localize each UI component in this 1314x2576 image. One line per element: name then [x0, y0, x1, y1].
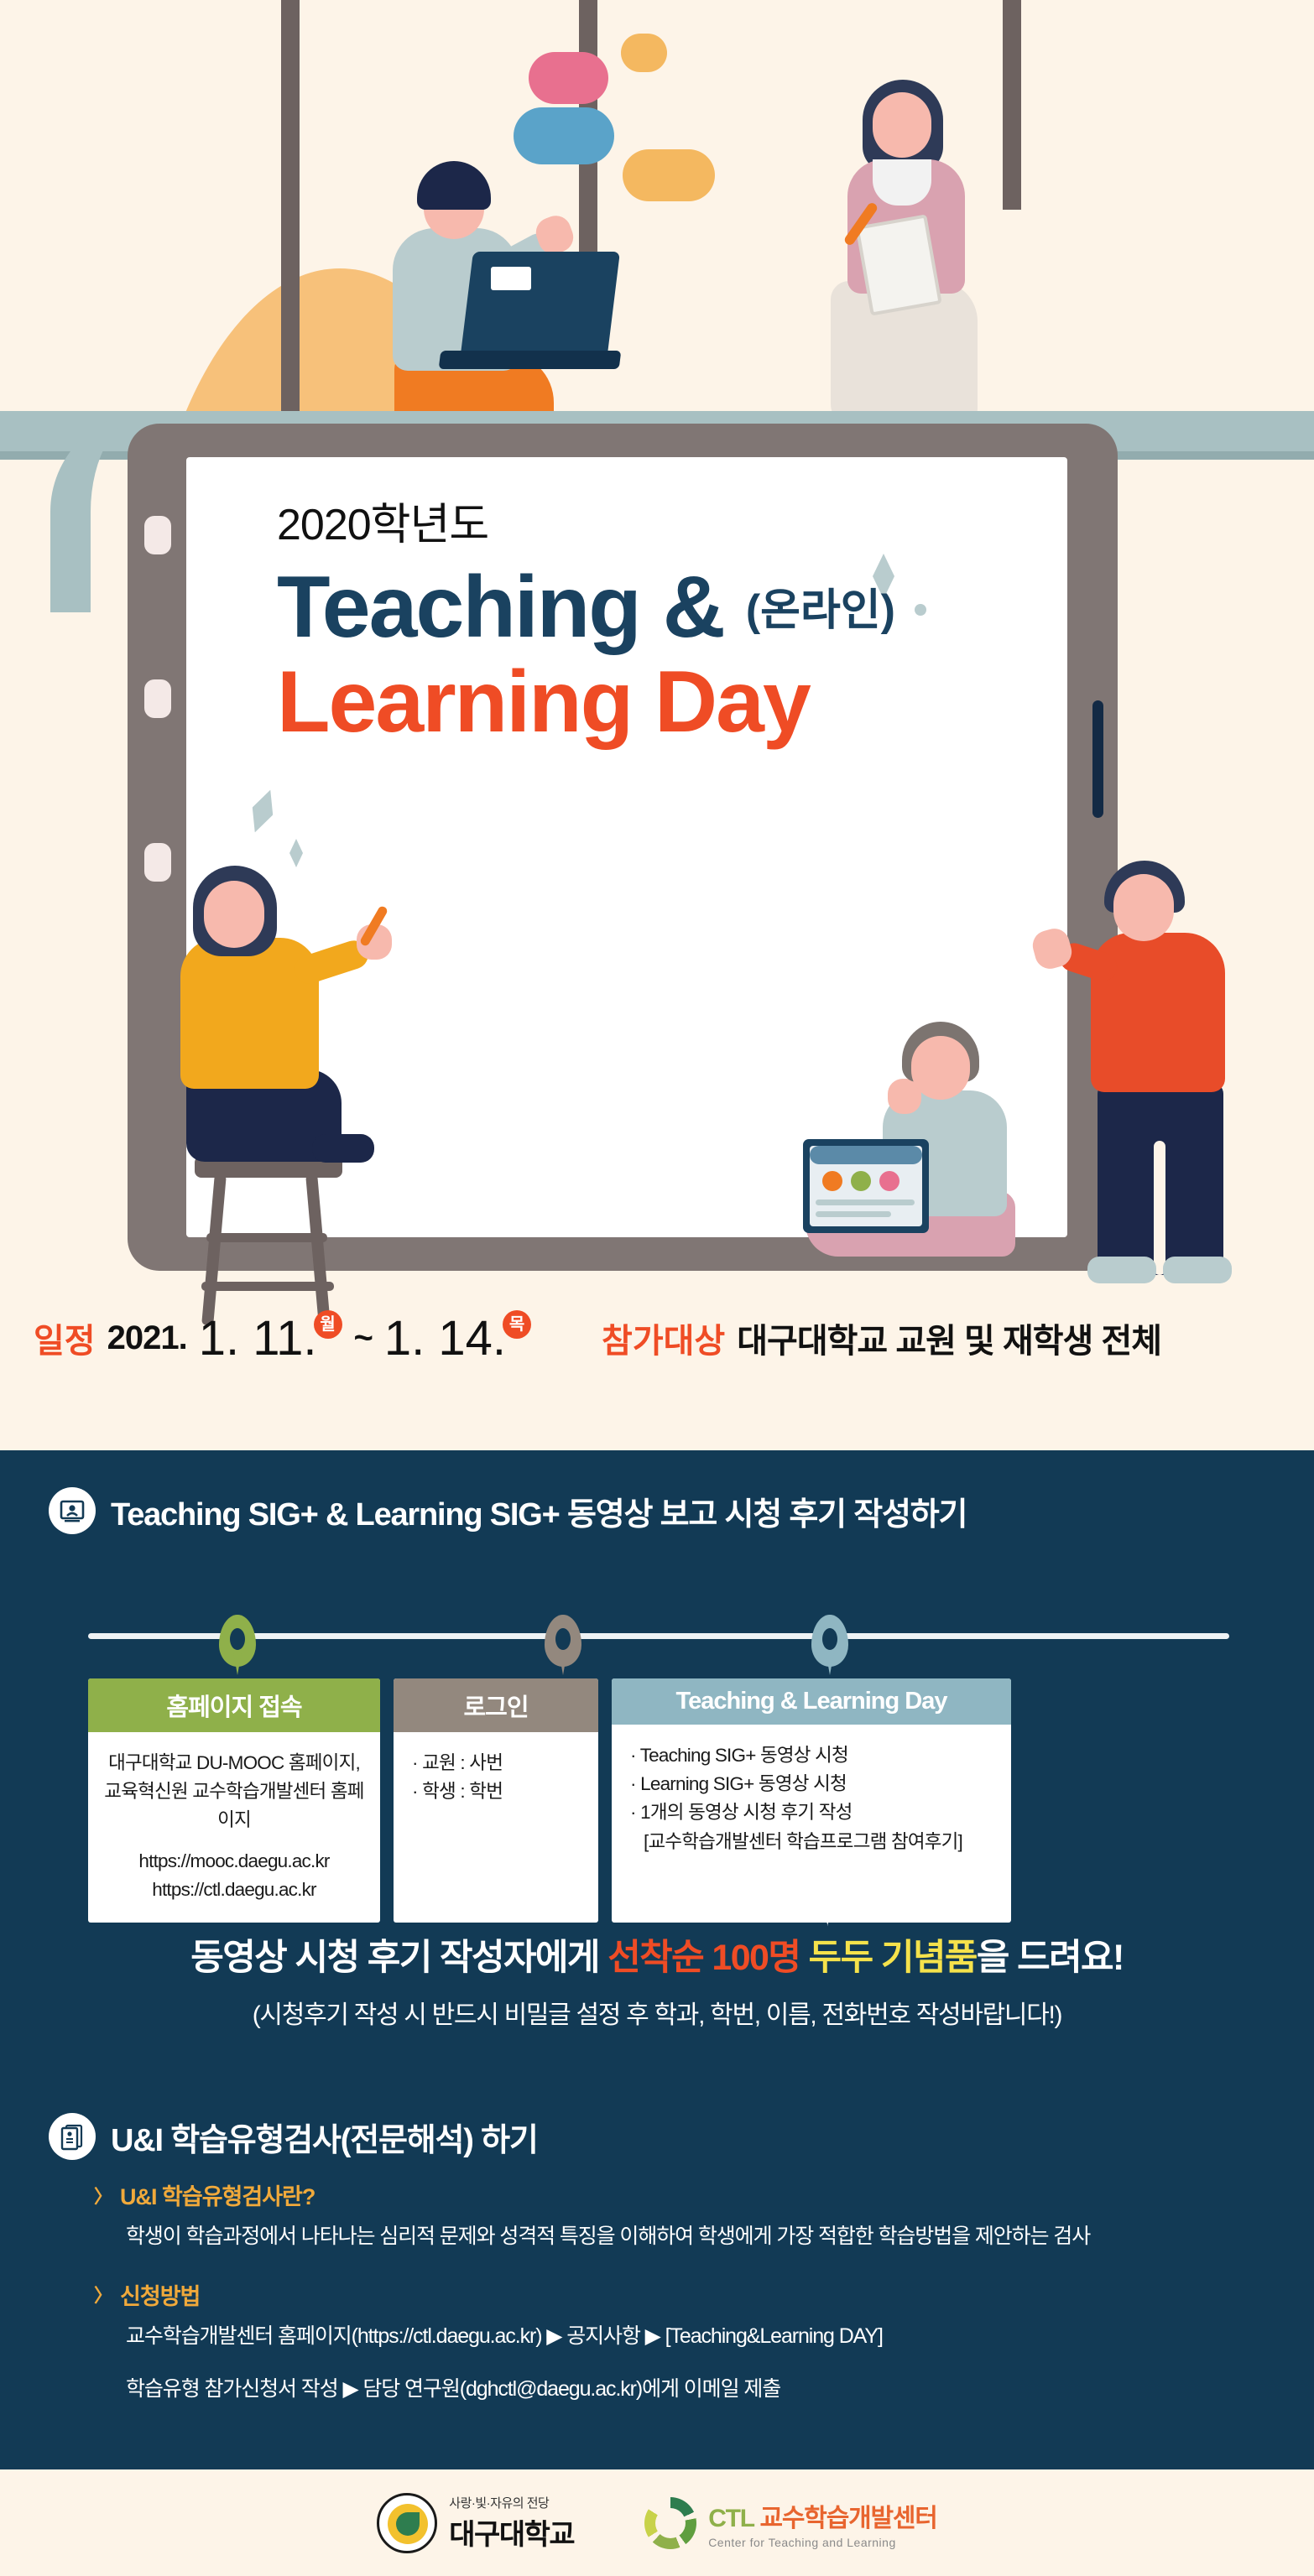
schedule-end-day-badge: 목 [503, 1310, 531, 1339]
ctl-logo: CTL 교수학습개발센터 Center for Teaching and Lea… [644, 2497, 937, 2549]
uni-apply-heading: 〉 신청방법 [94, 2278, 1314, 2311]
section2-body: 〉 U&I 학습유형검사란? 학생이 학습과정에서 나타나는 심리적 문제와 성… [0, 2160, 1314, 2406]
schedule-label: 일정 [34, 1314, 96, 1362]
ctl-name-kr: 교수학습개발센터 [753, 2505, 936, 2532]
audience-value: 대구대학교 교원 및 재학생 전체 [737, 1314, 1161, 1362]
timeline-pin-1 [219, 1615, 256, 1675]
step-3-line-3: · 1개의 동영상 시청 후기 작성 [630, 1798, 998, 1827]
audience-label: 참가대상 [602, 1314, 725, 1362]
step-1-header: 홈페이지 접속 [88, 1678, 380, 1732]
schedule-bar: 일정 2021. 1. 11.월 ~ 1. 14.목 참가대상 대구대학교 교원… [0, 1292, 1314, 1384]
step-2-body: · 교원 : 사번 · 학생 : 학번 [394, 1732, 598, 1923]
ctl-logo-text: CTL 교수학습개발센터 Center for Teaching and Lea… [708, 2497, 937, 2549]
step-1-body: 대구대학교 DU-MOOC 홈페이지, 교육혁신원 교수학습개발센터 홈페이지 … [88, 1732, 380, 1923]
gift-announcement: ✧ 동영상 시청 후기 작성자에게 선착순 100명 두두 기념품을 드려요! … [0, 1928, 1314, 2031]
uni-apply-step-1: 교수학습개발센터 홈페이지(https://ctl.daegu.ac.kr) ▶… [126, 2321, 1314, 2353]
university-name: 대구대학교 [449, 2511, 574, 2553]
poster-footer: 사랑·빛·자유의 전당 대구대학교 CTL 교수학습개발센터 Center fo… [0, 2469, 1314, 2576]
ctl-abbrev: CTL [708, 2505, 753, 2532]
step-1-line-1: 대구대학교 DU-MOOC 홈페이지, [102, 1749, 367, 1777]
gift-text-highlight-item: 두두 기념품 [800, 1938, 977, 1978]
uni-apply-step-2: 학습유형 참가신청서 작성 ▶ 담당 연구원(dghctl@daegu.ac.k… [126, 2374, 1314, 2406]
title-line-teaching: Teaching & [277, 562, 724, 653]
step-card-tlday: Teaching & Learning Day · Teaching SIG+ … [612, 1678, 1011, 1923]
poster-hero-section: 2020학년도 Teaching & (온라인) Learning Day [0, 0, 1314, 1450]
arrow-bullet-icon-2: 〉 [94, 2281, 112, 2308]
schedule-end-date: 1. 14. [384, 1310, 506, 1366]
title-line-learning-day: Learning Day [277, 656, 1099, 748]
section2-block: U&I 학습유형검사(전문해석) 하기 〉 U&I 학습유형검사란? 학생이 학… [0, 2113, 1314, 2406]
uni-definition-text: 학생이 학습과정에서 나타나는 심리적 문제와 성격적 특징을 이해하여 학생에… [126, 2221, 1314, 2253]
poster-title-block: 2020학년도 Teaching & (온라인) Learning Day [277, 503, 1099, 748]
step-3-header: Teaching & Learning Day [612, 1678, 1011, 1725]
speech-bubble-blue [514, 107, 614, 164]
academic-year: 2020학년도 [277, 503, 1099, 547]
step-2-line-1: · 교원 : 사번 [412, 1749, 585, 1777]
timeline-line [88, 1633, 1229, 1639]
speech-bubble-pink [529, 52, 608, 104]
schedule-start-date: 1. 11. [199, 1310, 317, 1366]
gift-text-highlight-count: 선착순 100명 [607, 1938, 800, 1978]
section2-title: U&I 학습유형검사(전문해석) 하기 [111, 2114, 538, 2160]
uni-apply-heading-label: 신청방법 [120, 2278, 200, 2311]
steps-timeline [88, 1615, 1229, 1665]
sparkle-icon: ✧ [816, 1900, 838, 1933]
device-hole-2 [144, 679, 171, 718]
ctl-name-en: Center for Teaching and Learning [708, 2536, 937, 2549]
video-review-icon [49, 1487, 96, 1534]
speech-bubble-yellow [623, 149, 715, 201]
uni-definition-heading-label: U&I 학습유형검사란? [120, 2178, 315, 2211]
schedule-tilde: ~ [354, 1319, 373, 1357]
gift-text-part-2: 을 드려요! [977, 1938, 1124, 1978]
speech-bubble-yellow-small [621, 34, 667, 72]
gift-text-part-1: 동영상 시청 후기 작성자에게 [190, 1938, 607, 1978]
step-2-header: 로그인 [394, 1678, 598, 1732]
device-hole-3 [144, 843, 171, 882]
arrow-bullet-icon-1: 〉 [94, 2182, 112, 2209]
step-card-homepage: 홈페이지 접속 대구대학교 DU-MOOC 홈페이지, 교육혁신원 교수학습개발… [88, 1678, 380, 1923]
timeline-pin-3 [811, 1615, 848, 1675]
title-online-tag: (온라인) [746, 575, 895, 653]
hanging-strap-right [1003, 0, 1021, 210]
steps-container: 홈페이지 접속 대구대학교 DU-MOOC 홈페이지, 교육혁신원 교수학습개발… [88, 1678, 1229, 1923]
schedule-year: 2021. [107, 1319, 187, 1357]
step-3-line-1: · Teaching SIG+ 동영상 시청 [630, 1741, 998, 1770]
step-3-line-2: · Learning SIG+ 동영상 시청 [630, 1770, 998, 1798]
section2-header: U&I 학습유형검사(전문해석) 하기 [0, 2113, 1314, 2160]
schedule-start-day-badge: 월 [314, 1310, 342, 1339]
university-logo-text: 사랑·빛·자유의 전당 대구대학교 [449, 2494, 574, 2553]
device-hole-1 [144, 516, 171, 554]
university-seal-icon [377, 2493, 437, 2553]
university-tagline: 사랑·빛·자유의 전당 [449, 2494, 574, 2511]
daegu-university-logo: 사랑·빛·자유의 전당 대구대학교 [377, 2493, 574, 2553]
step-1-line-2: 교육혁신원 교수학습개발센터 홈페이지 [102, 1777, 367, 1834]
gift-note: (시청후기 작성 시 반드시 비밀글 설정 후 학과, 학번, 이름, 전화번호… [0, 1994, 1314, 2031]
step-card-login: 로그인 · 교원 : 사번 · 학생 : 학번 [394, 1678, 598, 1923]
poster-detail-section: Teaching SIG+ & Learning SIG+ 동영상 보고 시청 … [0, 1450, 1314, 2469]
step-1-url-2[interactable]: https://ctl.daegu.ac.kr [102, 1876, 367, 1904]
step-1-url-1[interactable]: https://mooc.daegu.ac.kr [102, 1847, 367, 1876]
timeline-pin-2 [545, 1615, 581, 1675]
step-3-body: · Teaching SIG+ 동영상 시청 · Learning SIG+ 동… [612, 1725, 1011, 1923]
test-document-icon [49, 2113, 96, 2160]
section1-header: Teaching SIG+ & Learning SIG+ 동영상 보고 시청 … [0, 1450, 1314, 1534]
section1-title: Teaching SIG+ & Learning SIG+ 동영상 보고 시청 … [111, 1488, 967, 1534]
step-3-line-4: [교수학습개발센터 학습프로그램 참여후기] [630, 1828, 998, 1856]
step-2-line-2: · 학생 : 학번 [412, 1777, 585, 1806]
ctl-ring-icon [644, 2497, 696, 2549]
gift-headline: ✧ 동영상 시청 후기 작성자에게 선착순 100명 두두 기념품을 드려요! [0, 1928, 1314, 1980]
uni-definition-heading: 〉 U&I 학습유형검사란? [94, 2178, 1314, 2211]
